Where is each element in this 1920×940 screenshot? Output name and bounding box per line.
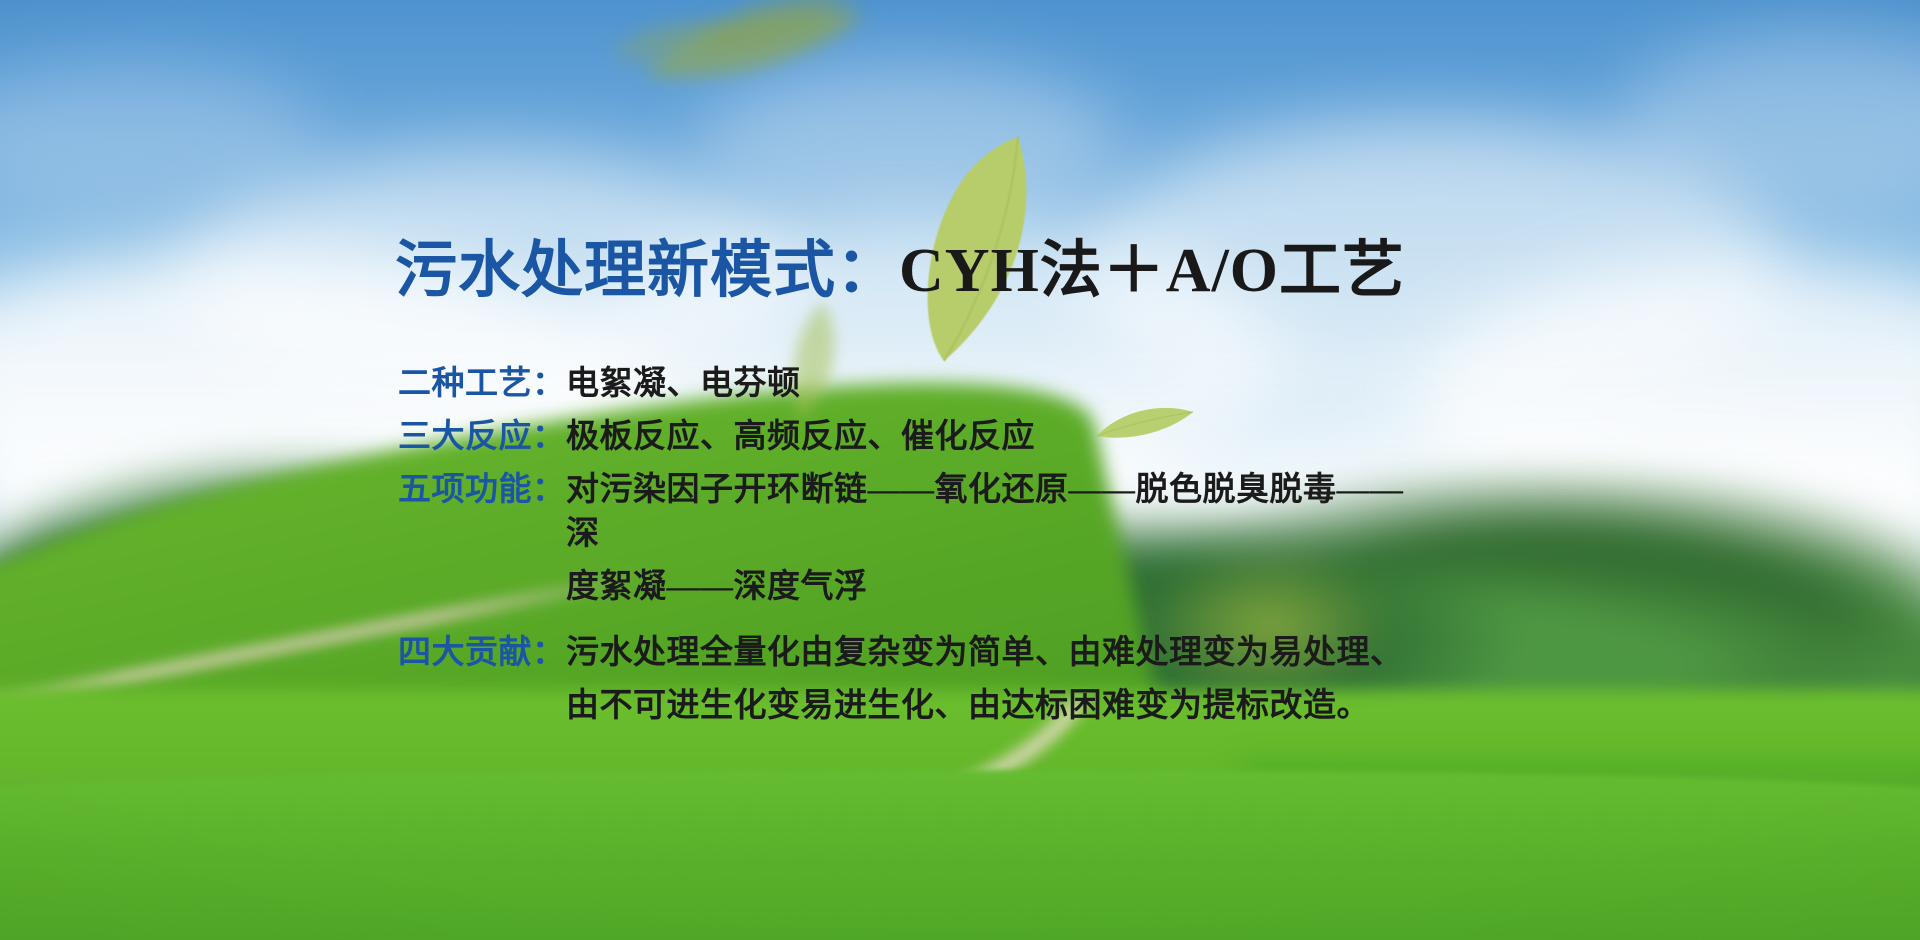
list-item: 二种工艺： 电絮凝、电芬顿	[398, 362, 1426, 406]
list-item: 三大反应： 极板反应、高频反应、催化反应	[398, 415, 1426, 459]
list-item-continuation: 由不可进生化变易进生化、由达标困难变为提标改造。	[398, 684, 1426, 728]
page-title: 污水处理新模式：CYH法＋A/O工艺	[395, 238, 1405, 305]
list-item-body-continued: 由不可进生化变易进生化、由达标困难变为提标改造。	[566, 684, 1370, 728]
list-item-label: 五项功能：	[398, 468, 566, 512]
list-item: 五项功能： 对污染因子开环断链——氧化还原——脱色脱臭脱毒——深	[398, 468, 1426, 556]
title-black-part: CYH法＋A/O工艺	[899, 237, 1405, 305]
list-item-continuation: 度絮凝——深度气浮	[398, 565, 1426, 609]
list-item-label: 四大贡献：	[398, 631, 566, 675]
list-item-label: 二种工艺：	[398, 362, 566, 406]
list-item-body-continued: 度絮凝——深度气浮	[566, 565, 868, 609]
list-item-label: 三大反应：	[398, 415, 566, 459]
list-item-body: 对污染因子开环断链——氧化还原——脱色脱臭脱毒——深	[566, 468, 1426, 556]
title-blue-part: 污水处理新模式：	[395, 237, 899, 305]
list-item-body: 极板反应、高频反应、催化反应	[566, 415, 1035, 459]
list-item: 四大贡献： 污水处理全量化由复杂变为简单、由难处理变为易处理、	[398, 631, 1426, 675]
text-overlay: 污水处理新模式：CYH法＋A/O工艺 二种工艺： 电絮凝、电芬顿 三大反应： 极…	[0, 0, 1920, 940]
scene-banner: 污水处理新模式：CYH法＋A/O工艺 二种工艺： 电絮凝、电芬顿 三大反应： 极…	[0, 0, 1920, 940]
bullet-list: 二种工艺： 电絮凝、电芬顿 三大反应： 极板反应、高频反应、催化反应 五项功能：…	[398, 362, 1426, 737]
list-item-body: 电絮凝、电芬顿	[566, 362, 801, 406]
list-item-body: 污水处理全量化由复杂变为简单、由难处理变为易处理、	[566, 631, 1404, 675]
